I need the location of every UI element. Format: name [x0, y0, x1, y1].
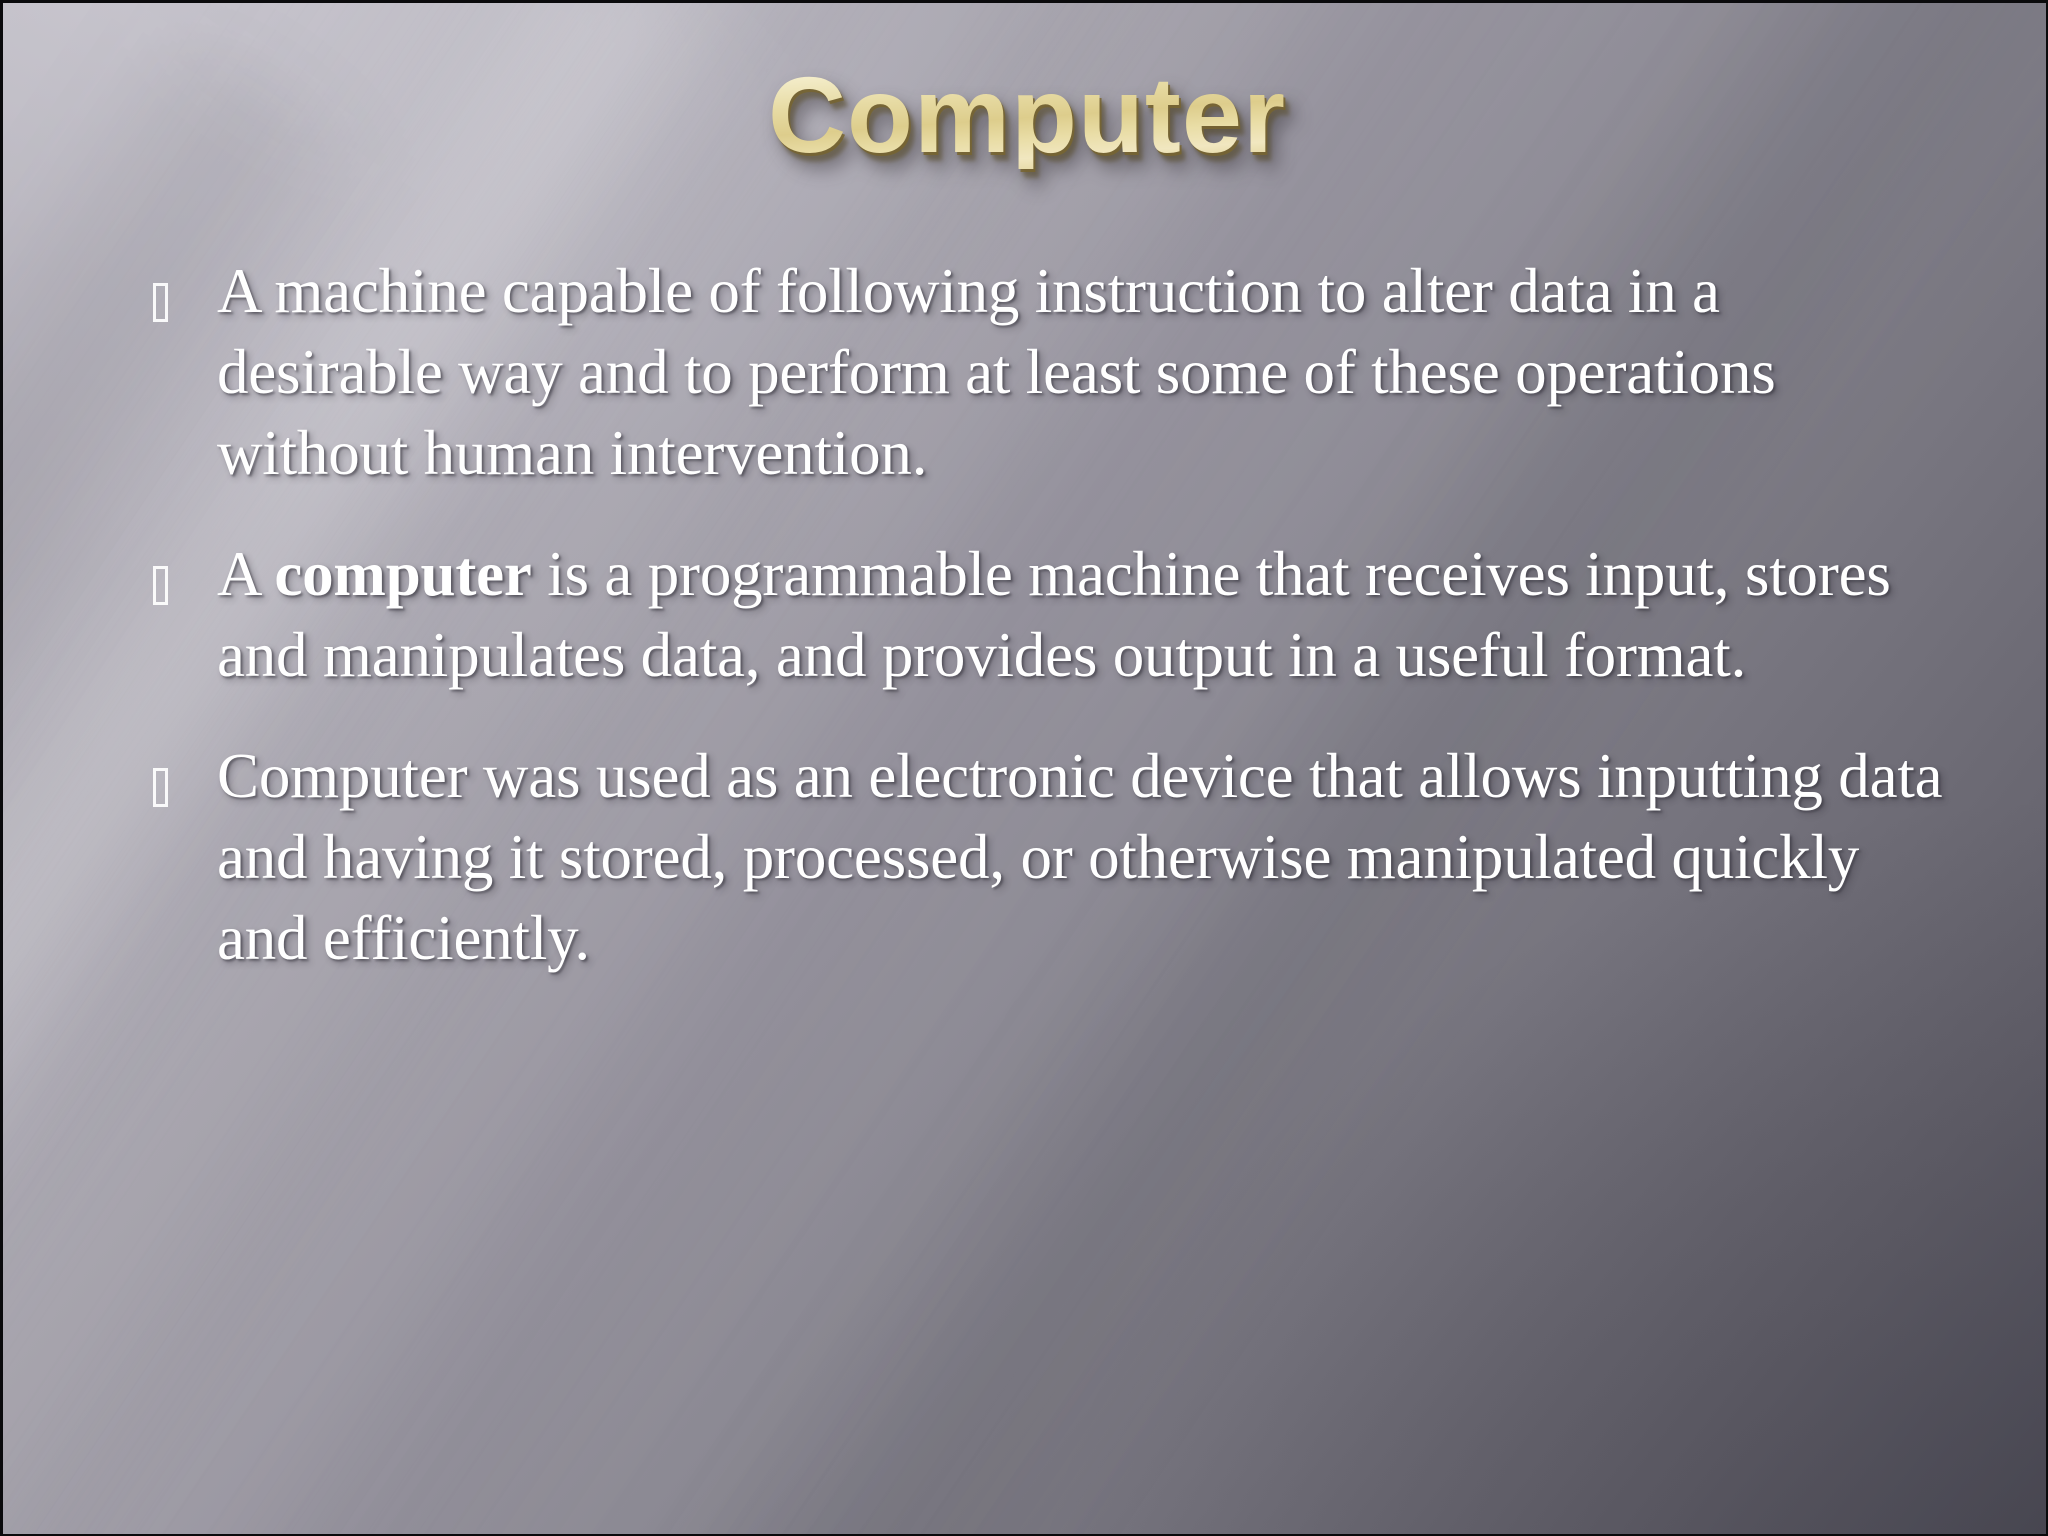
bullet-text-1: A machine capable of following instructi… — [217, 251, 1943, 494]
bullet-text-2: A computer is a programmable machine tha… — [217, 534, 1943, 696]
slide-body-bullet-list: A machine capable of following instructi… — [153, 251, 1943, 979]
slide-title-container: Computer — [3, 61, 2048, 169]
list-item: A machine capable of following instructi… — [153, 251, 1943, 494]
list-item: Computer was used as an electronic devic… — [153, 736, 1943, 979]
slide-title: Computer — [768, 61, 1286, 169]
tofu-box-icon — [153, 566, 168, 605]
bullet-text-3: Computer was used as an electronic devic… — [217, 736, 1943, 979]
list-item: A computer is a programmable machine tha… — [153, 534, 1943, 696]
presentation-slide: Computer A machine capable of following … — [0, 0, 2048, 1536]
tofu-box-icon — [153, 768, 168, 807]
tofu-box-icon — [153, 283, 168, 322]
